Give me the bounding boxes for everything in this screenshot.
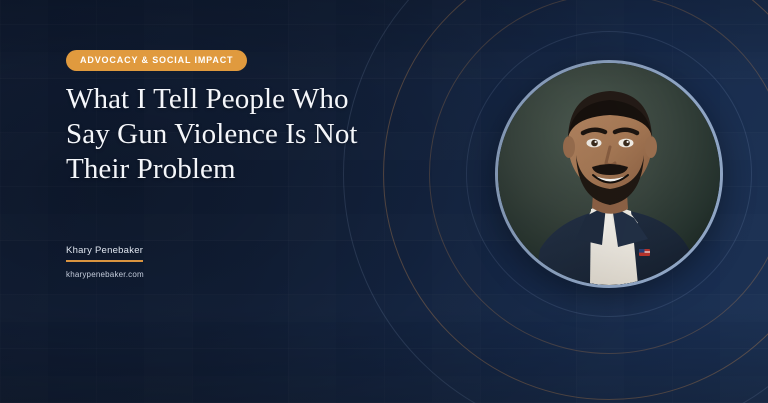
flag-lapel-pin-icon: [639, 249, 650, 256]
hero-content: ADVOCACY & SOCIAL IMPACT What I Tell Peo…: [66, 0, 466, 403]
portrait-image: [498, 63, 720, 285]
article-hero-card: ADVOCACY & SOCIAL IMPACT What I Tell Peo…: [0, 0, 768, 403]
category-badge[interactable]: ADVOCACY & SOCIAL IMPACT: [66, 50, 247, 71]
author-website[interactable]: kharypenebaker.com: [66, 270, 286, 279]
page-title: What I Tell People Who Say Gun Violence …: [66, 82, 396, 187]
author-name: Khary Penebaker: [66, 245, 143, 262]
portrait-illustration: [498, 63, 720, 285]
byline: Khary Penebaker kharypenebaker.com: [66, 240, 286, 279]
author-portrait: [495, 60, 723, 288]
